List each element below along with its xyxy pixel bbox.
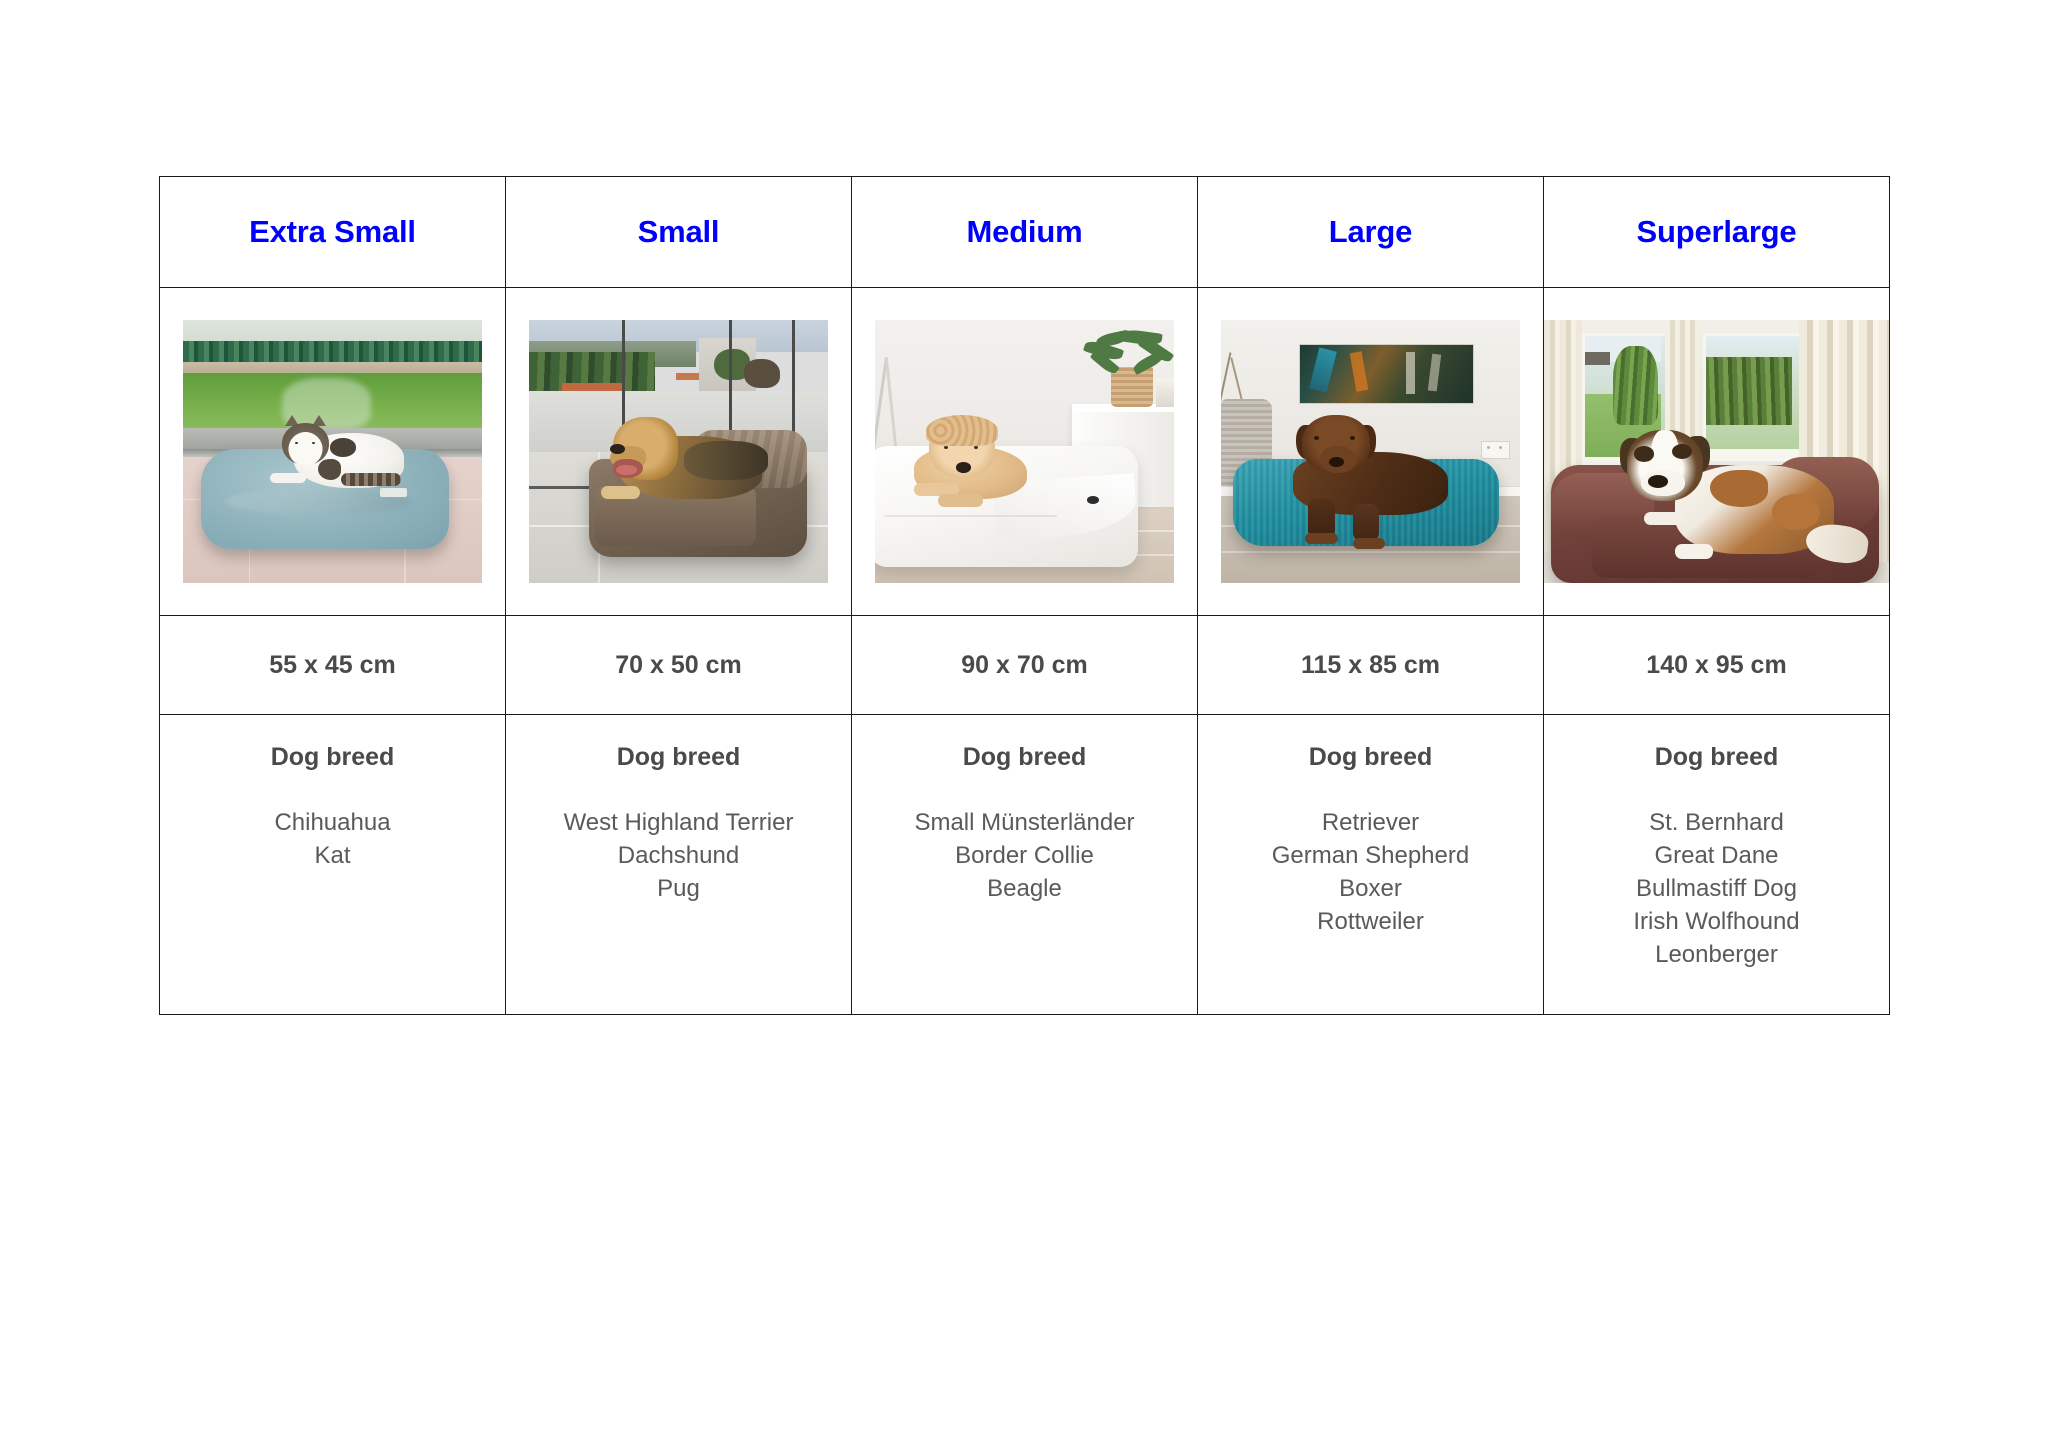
breed-item: Leonberger (1544, 938, 1889, 971)
photo-cat-on-light-blue-dog-bed (183, 320, 482, 583)
breed-item: Rottweiler (1198, 905, 1543, 938)
breed-item: Irish Wolfhound (1544, 905, 1889, 938)
photo-chocolate-labrador-on-teal-dog-bed (1221, 320, 1520, 583)
breed-label-medium: Dog breed (852, 743, 1197, 772)
breed-item: Chihuahua (160, 806, 505, 839)
breed-item: Boxer (1198, 872, 1543, 905)
table-dimension-row: 55 x 45 cm 70 x 50 cm 90 x 70 cm 115 x 8… (160, 616, 1890, 715)
breed-item: Small Münsterländer (852, 806, 1197, 839)
column-header-medium: Medium (852, 177, 1197, 287)
dimension-small: 70 x 50 cm (506, 616, 851, 714)
table-header-row: Extra Small Small Medium Large Superlarg… (160, 177, 1890, 288)
image-cell-superlarge (1544, 288, 1889, 615)
breed-cell-large: Dog breed Retriever German Shepherd Boxe… (1198, 715, 1543, 938)
column-header-superlarge: Superlarge (1544, 177, 1889, 287)
breed-cell-medium: Dog breed Small Münsterländer Border Col… (852, 715, 1197, 905)
column-header-small: Small (506, 177, 851, 287)
breed-label-large: Dog breed (1198, 743, 1543, 772)
breed-label-extra-small: Dog breed (160, 743, 505, 772)
dog-bed-size-table: Extra Small Small Medium Large Superlarg… (159, 176, 1890, 1015)
breed-label-superlarge: Dog breed (1544, 743, 1889, 772)
breed-list-superlarge: St. Bernhard Great Dane Bullmastiff Dog … (1544, 806, 1889, 971)
image-cell-extra-small (160, 288, 505, 615)
column-header-large: Large (1198, 177, 1543, 287)
breed-item: German Shepherd (1198, 839, 1543, 872)
column-header-extra-small: Extra Small (160, 177, 505, 287)
photo-cockapoo-on-white-dog-bed (875, 320, 1174, 583)
breed-item: Kat (160, 839, 505, 872)
dimension-extra-small: 55 x 45 cm (160, 616, 505, 714)
dimension-medium: 90 x 70 cm (852, 616, 1197, 714)
breed-item: Dachshund (506, 839, 851, 872)
image-cell-medium (852, 288, 1197, 615)
breed-item: Pug (506, 872, 851, 905)
breed-item: West Highland Terrier (506, 806, 851, 839)
breed-list-small: West Highland Terrier Dachshund Pug (506, 806, 851, 905)
document-page: Extra Small Small Medium Large Superlarg… (0, 0, 2048, 1448)
breed-cell-small: Dog breed West Highland Terrier Dachshun… (506, 715, 851, 905)
photo-st-bernard-on-brown-leather-sofa-bed (1544, 320, 1889, 583)
breed-item: Beagle (852, 872, 1197, 905)
breed-cell-superlarge: Dog breed St. Bernhard Great Dane Bullma… (1544, 715, 1889, 971)
breed-list-extra-small: Chihuahua Kat (160, 806, 505, 872)
breed-label-small: Dog breed (506, 743, 851, 772)
breed-item: Great Dane (1544, 839, 1889, 872)
breed-item: Bullmastiff Dog (1544, 872, 1889, 905)
dimension-superlarge: 140 x 95 cm (1544, 616, 1889, 714)
dimension-large: 115 x 85 cm (1198, 616, 1543, 714)
image-cell-small (506, 288, 851, 615)
photo-terrier-on-brown-leather-sofa-bed (529, 320, 828, 583)
breed-list-medium: Small Münsterländer Border Collie Beagle (852, 806, 1197, 905)
image-cell-large (1198, 288, 1543, 615)
breed-item: Border Collie (852, 839, 1197, 872)
table-breed-row: Dog breed Chihuahua Kat Dog breed West H… (160, 715, 1890, 1015)
breed-cell-extra-small: Dog breed Chihuahua Kat (160, 715, 505, 872)
breed-item: Retriever (1198, 806, 1543, 839)
breed-list-large: Retriever German Shepherd Boxer Rottweil… (1198, 806, 1543, 938)
breed-item: St. Bernhard (1544, 806, 1889, 839)
table-image-row (160, 288, 1890, 616)
